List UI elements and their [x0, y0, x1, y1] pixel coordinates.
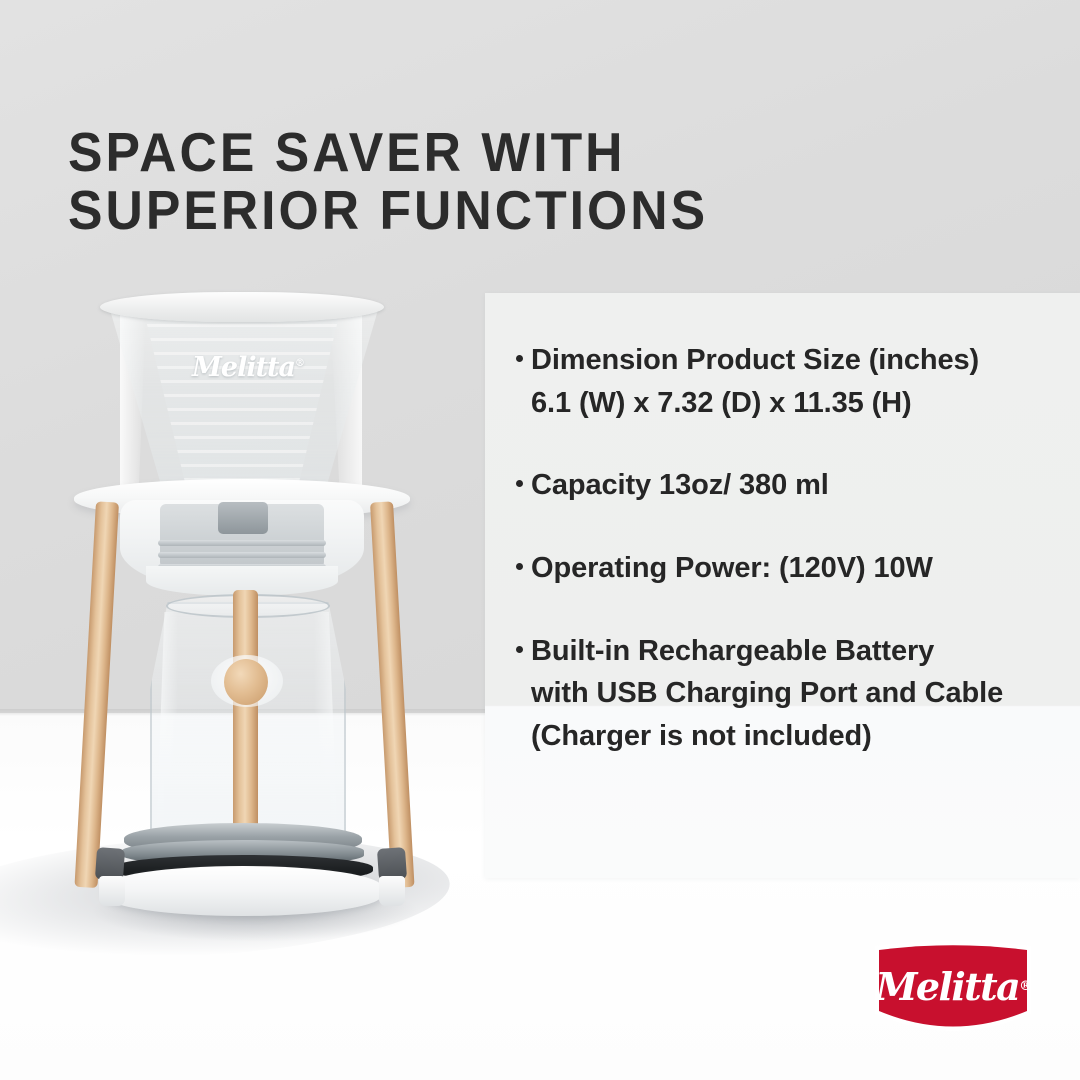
product-spec-card: SPACE SAVER WITH SUPERIOR FUNCTIONS Meli…: [0, 0, 1080, 1080]
spec-text-battery: Built-in Rechargeable Battery with USB C…: [516, 630, 1036, 758]
base-foot-right: [379, 876, 405, 906]
melitta-logo: Melitta®: [872, 936, 1034, 1040]
white-base-disc: [104, 866, 382, 916]
bullet-dot-icon: [516, 355, 523, 362]
melitta-wordmark: Melitta®: [872, 936, 1034, 1040]
wooden-leg-left: [74, 501, 119, 888]
bullet-dot-icon: [516, 646, 523, 653]
product-photo: Melitta®: [0, 0, 480, 1080]
melitta-trademark-symbol: ®: [1019, 979, 1030, 994]
spec-text-dimension: Dimension Product Size (inches) 6.1 (W) …: [516, 339, 1036, 424]
wooden-leg-right: [370, 501, 415, 888]
spec-item-operating-power: Operating Power: (120V) 10W: [516, 547, 1036, 590]
dripper-rim: [100, 292, 384, 322]
melitta-wordmark-text: Melitta: [875, 964, 1019, 1009]
bullet-dot-icon: [516, 563, 523, 570]
dripper-brand-text: Melitta: [192, 352, 295, 383]
specifications-list: Dimension Product Size (inches) 6.1 (W) …: [516, 339, 1036, 757]
wooden-center-post: [233, 590, 258, 856]
filter-band-2: [158, 552, 326, 558]
wooden-knob: [224, 659, 268, 705]
spec-item-battery: Built-in Rechargeable Battery with USB C…: [516, 630, 1036, 758]
base-foot-left: [99, 876, 125, 906]
specifications-panel: Dimension Product Size (inches) 6.1 (W) …: [485, 293, 1080, 878]
dripper-trademark-symbol: ®: [295, 358, 304, 369]
filter-hub: [218, 502, 268, 534]
dripper-brand-mark: Melitta®: [192, 352, 302, 392]
spec-item-capacity: Capacity 13oz/ 380 ml: [516, 464, 1036, 507]
spec-text-capacity: Capacity 13oz/ 380 ml: [516, 464, 1036, 507]
filter-band-1: [158, 540, 326, 546]
spec-text-operating-power: Operating Power: (120V) 10W: [516, 547, 1036, 590]
spec-item-dimension: Dimension Product Size (inches) 6.1 (W) …: [516, 339, 1036, 424]
